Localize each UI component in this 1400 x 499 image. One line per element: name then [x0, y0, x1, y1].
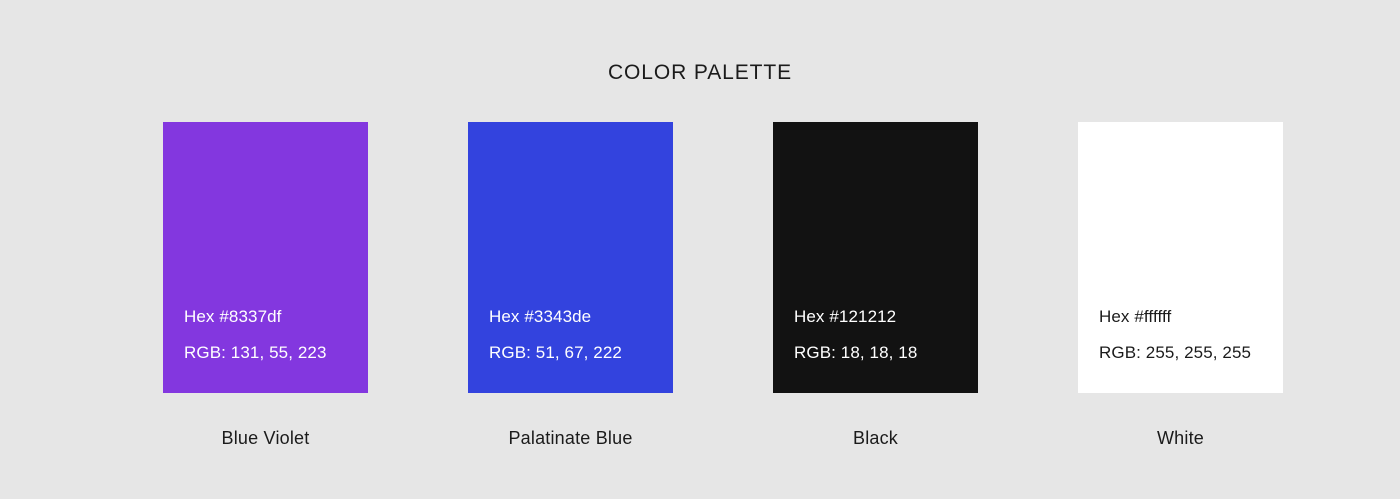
- color-name-label: Blue Violet: [163, 428, 368, 449]
- color-swatch-item: Hex #8337df RGB: 131, 55, 223 Blue Viole…: [163, 122, 368, 393]
- color-chip-text: Hex #ffffff RGB: 255, 255, 255: [1099, 299, 1275, 371]
- color-chip-text: Hex #121212 RGB: 18, 18, 18: [794, 299, 970, 371]
- color-swatch-item: Hex #3343de RGB: 51, 67, 222 Palatinate …: [468, 122, 673, 393]
- color-rgb-label: RGB: 255, 255, 255: [1099, 335, 1275, 371]
- color-name-label: Palatinate Blue: [468, 428, 673, 449]
- color-swatch-item: Hex #121212 RGB: 18, 18, 18 Black: [773, 122, 978, 393]
- color-chip-text: Hex #3343de RGB: 51, 67, 222: [489, 299, 665, 371]
- color-hex-label: Hex #8337df: [184, 299, 360, 335]
- color-chip-white[interactable]: Hex #ffffff RGB: 255, 255, 255: [1078, 122, 1283, 393]
- color-name-label: Black: [773, 428, 978, 449]
- color-chip-black[interactable]: Hex #121212 RGB: 18, 18, 18: [773, 122, 978, 393]
- color-chip-text: Hex #8337df RGB: 131, 55, 223: [184, 299, 360, 371]
- color-chip-palatinate-blue[interactable]: Hex #3343de RGB: 51, 67, 222: [468, 122, 673, 393]
- color-hex-label: Hex #121212: [794, 299, 970, 335]
- color-hex-label: Hex #3343de: [489, 299, 665, 335]
- color-chip-blue-violet[interactable]: Hex #8337df RGB: 131, 55, 223: [163, 122, 368, 393]
- page-title: COLOR PALETTE: [0, 61, 1400, 85]
- color-rgb-label: RGB: 51, 67, 222: [489, 335, 665, 371]
- color-swatch-row: Hex #8337df RGB: 131, 55, 223 Blue Viole…: [163, 122, 1283, 393]
- color-rgb-label: RGB: 18, 18, 18: [794, 335, 970, 371]
- color-hex-label: Hex #ffffff: [1099, 299, 1275, 335]
- color-swatch-item: Hex #ffffff RGB: 255, 255, 255 White: [1078, 122, 1283, 393]
- color-name-label: White: [1078, 428, 1283, 449]
- color-rgb-label: RGB: 131, 55, 223: [184, 335, 360, 371]
